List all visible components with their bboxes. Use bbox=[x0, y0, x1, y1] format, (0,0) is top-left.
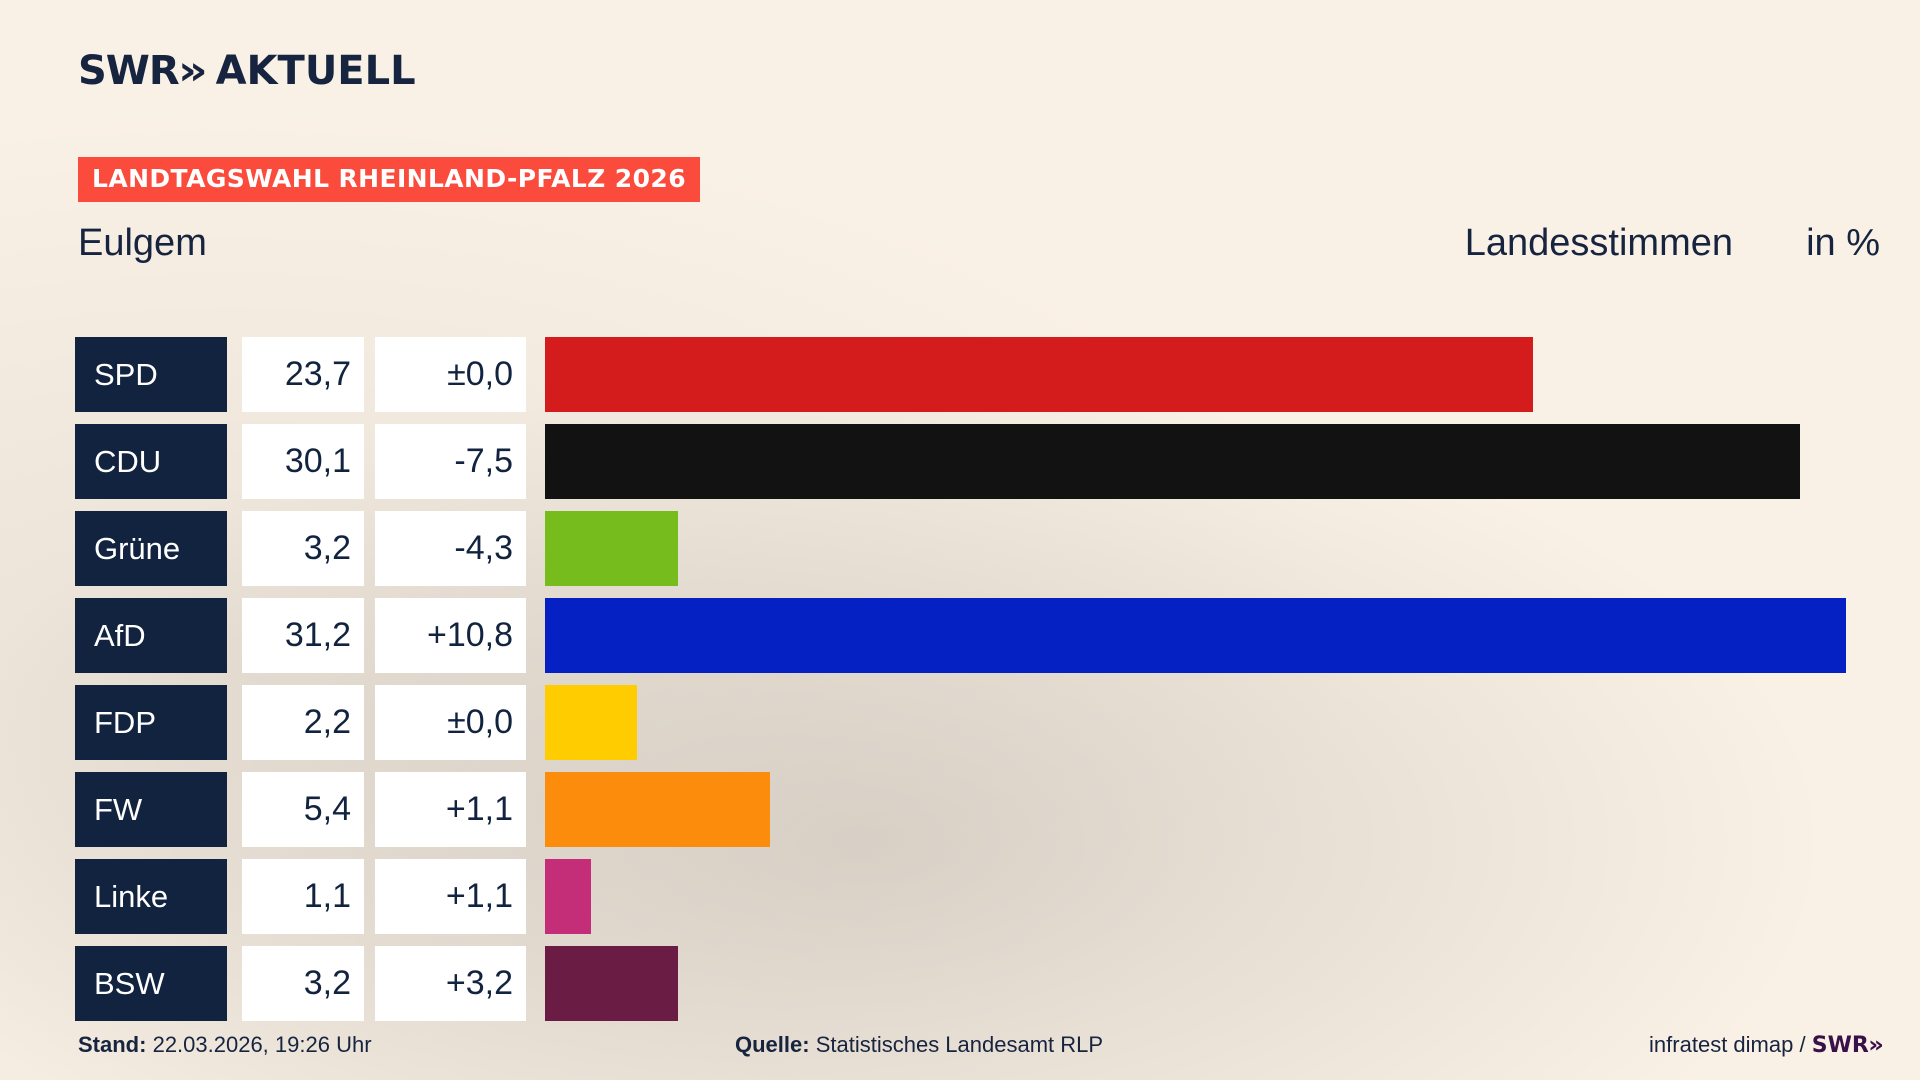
party-bar bbox=[545, 685, 637, 760]
party-share-value: 23,7 bbox=[242, 337, 364, 412]
party-label: Linke bbox=[75, 859, 227, 934]
credit-agency: infratest dimap bbox=[1649, 1032, 1793, 1057]
party-change-value: ±0,0 bbox=[375, 337, 526, 412]
party-label: AfD bbox=[75, 598, 227, 673]
swr-chevron-icon: » bbox=[178, 51, 208, 91]
quelle-value: Statistisches Landesamt RLP bbox=[816, 1032, 1103, 1057]
party-share-value: 2,2 bbox=[242, 685, 364, 760]
party-change-value: -7,5 bbox=[375, 424, 526, 499]
swr-wordmark: SWR bbox=[78, 48, 179, 94]
party-share-value: 5,4 bbox=[242, 772, 364, 847]
party-share-value: 3,2 bbox=[242, 511, 364, 586]
results-chart: SPD23,7±0,0CDU30,1-7,5Grüne3,2-4,3AfD31,… bbox=[0, 331, 1920, 1027]
party-label: FDP bbox=[75, 685, 227, 760]
credit-separator: / bbox=[1799, 1032, 1805, 1057]
party-bar bbox=[545, 772, 770, 847]
credit-chevron-icon: » bbox=[1868, 1033, 1884, 1058]
party-share-value: 30,1 bbox=[242, 424, 364, 499]
party-bar bbox=[545, 859, 591, 934]
swr-aktuell-logo: SWR»AKTUELL bbox=[78, 48, 416, 94]
stand-label: Stand: bbox=[78, 1032, 146, 1057]
chart-row: BSW3,2+3,2 bbox=[0, 940, 1920, 1027]
election-title-badge: LANDTAGSWAHL RHEINLAND-PFALZ 2026 bbox=[78, 157, 700, 202]
party-label: Grüne bbox=[75, 511, 227, 586]
chart-row: SPD23,7±0,0 bbox=[0, 331, 1920, 418]
vote-type-label: Landesstimmen bbox=[1465, 222, 1733, 265]
chart-row: FDP2,2±0,0 bbox=[0, 679, 1920, 766]
quelle-block: Quelle: Statistisches Landesamt RLP bbox=[735, 1032, 1103, 1058]
party-share-value: 31,2 bbox=[242, 598, 364, 673]
chart-row: AfD31,2+10,8 bbox=[0, 592, 1920, 679]
stand-block: Stand: 22.03.2026, 19:26 Uhr bbox=[78, 1032, 372, 1058]
chart-row: FW5,4+1,1 bbox=[0, 766, 1920, 853]
page-title: Eulgem bbox=[78, 222, 207, 265]
credit-block: infratest dimap / SWR» bbox=[1649, 1032, 1883, 1058]
party-share-value: 3,2 bbox=[242, 946, 364, 1021]
party-change-value: +3,2 bbox=[375, 946, 526, 1021]
party-label: FW bbox=[75, 772, 227, 847]
chart-row: CDU30,1-7,5 bbox=[0, 418, 1920, 505]
credit-swr-wordmark: SWR bbox=[1812, 1033, 1869, 1058]
unit-label: in % bbox=[1806, 222, 1880, 265]
election-result-chart-page: SWR»AKTUELL LANDTAGSWAHL RHEINLAND-PFALZ… bbox=[0, 0, 1920, 1080]
party-bar bbox=[545, 337, 1533, 412]
party-change-value: +10,8 bbox=[375, 598, 526, 673]
credit-swr-logo: SWR» bbox=[1812, 1033, 1883, 1058]
stand-value: 22.03.2026, 19:26 Uhr bbox=[153, 1032, 372, 1057]
chart-footer: Stand: 22.03.2026, 19:26 Uhr Quelle: Sta… bbox=[0, 1032, 1920, 1072]
chart-row: Linke1,1+1,1 bbox=[0, 853, 1920, 940]
party-label: SPD bbox=[75, 337, 227, 412]
party-share-value: 1,1 bbox=[242, 859, 364, 934]
aktuell-wordmark: AKTUELL bbox=[216, 48, 416, 94]
quelle-label: Quelle: bbox=[735, 1032, 810, 1057]
party-change-value: +1,1 bbox=[375, 859, 526, 934]
party-change-value: +1,1 bbox=[375, 772, 526, 847]
party-label: BSW bbox=[75, 946, 227, 1021]
party-bar bbox=[545, 946, 678, 1021]
party-change-value: ±0,0 bbox=[375, 685, 526, 760]
chart-row: Grüne3,2-4,3 bbox=[0, 505, 1920, 592]
party-bar bbox=[545, 511, 678, 586]
party-label: CDU bbox=[75, 424, 227, 499]
party-bar bbox=[545, 424, 1800, 499]
party-bar bbox=[545, 598, 1846, 673]
party-change-value: -4,3 bbox=[375, 511, 526, 586]
